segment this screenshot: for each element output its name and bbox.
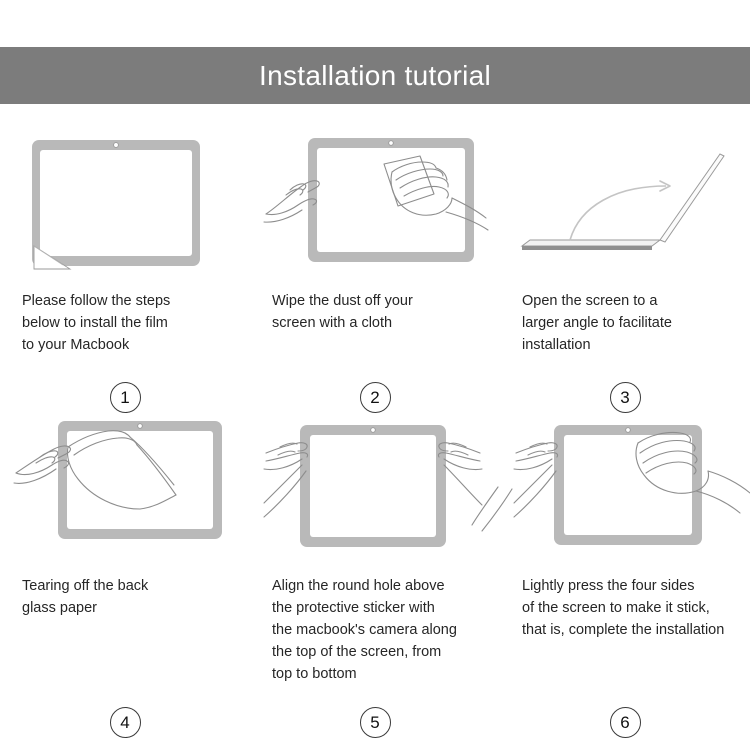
step-2-number-wrap: 2 [264,364,486,413]
step-6-caption: Lightly press the four sides of the scre… [514,575,736,641]
step-6-illustration [514,413,736,563]
tutorial-steps-grid: Please follow the steps below to install… [0,128,750,738]
step-4-caption: Tearing off the back glass paper [14,575,236,619]
tutorial-step-1: Please follow the steps below to install… [0,128,250,413]
tutorial-step-2: Wipe the dust off your screen with a clo… [250,128,500,413]
page-title: Installation tutorial [259,62,491,90]
laptop-screen-with-peeling-film-corner-icon [14,128,236,278]
tutorial-step-3: Open the screen to a larger angle to fac… [500,128,750,413]
step-3-caption: Open the screen to a larger angle to fac… [514,290,736,356]
step-number-badge: 5 [360,707,391,738]
step-1-number-wrap: 1 [14,364,236,413]
step-3-illustration [514,128,736,278]
step-2-illustration [264,128,486,278]
hands-wiping-screen-with-cloth-icon [264,128,500,278]
step-6-number-wrap: 6 [514,685,736,738]
tutorial-step-6: Lightly press the four sides of the scre… [500,413,750,738]
step-1-illustration [14,128,236,278]
step-number-badge: 4 [110,707,141,738]
step-4-illustration [14,413,236,563]
tutorial-step-5: Align the round hole above the protectiv… [250,413,500,738]
hands-pressing-screen-edges-icon [514,413,750,563]
step-2-caption: Wipe the dust off your screen with a clo… [264,290,486,334]
laptop-side-view-opening-lid-arrow-icon [514,128,736,278]
step-number-badge: 1 [110,382,141,413]
step-1-caption: Please follow the steps below to install… [14,290,236,356]
tutorial-step-4: Tearing off the back glass paper 4 [0,413,250,738]
step-5-caption: Align the round hole above the protectiv… [264,575,486,685]
step-number-badge: 2 [360,382,391,413]
step-4-number-wrap: 4 [14,685,236,738]
step-number-badge: 3 [610,382,641,413]
two-hands-aligning-film-on-screen-icon [264,413,514,563]
step-5-number-wrap: 5 [264,685,486,738]
step-number-badge: 6 [610,707,641,738]
header-banner: Installation tutorial [0,47,750,104]
hand-peeling-back-paper-from-screen-icon [14,413,250,563]
step-5-illustration [264,413,486,563]
step-3-number-wrap: 3 [514,364,736,413]
